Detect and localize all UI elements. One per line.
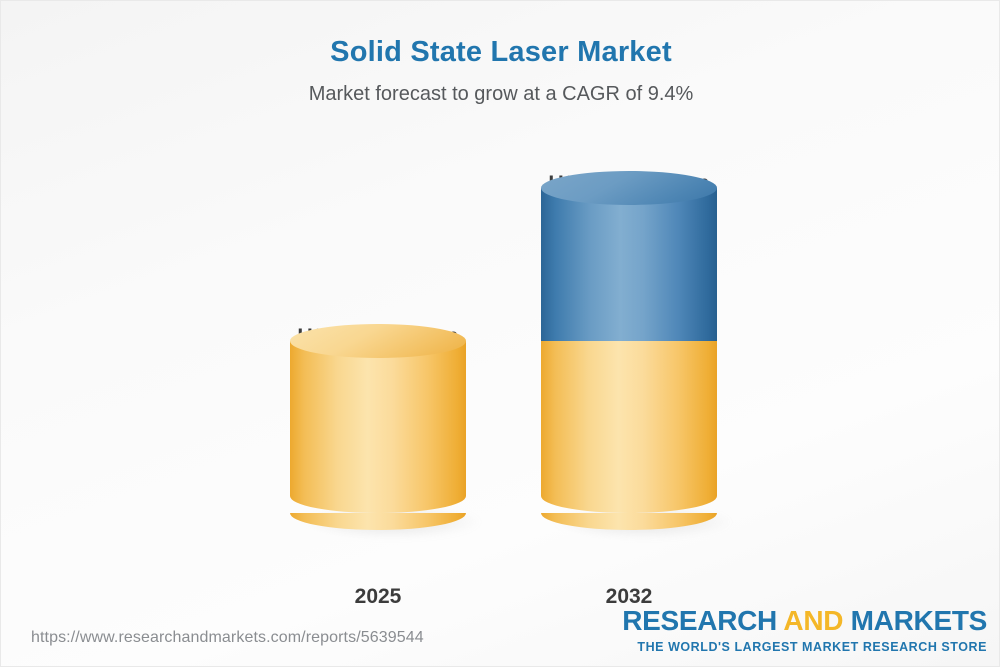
- cylinder-2025: [290, 341, 466, 513]
- segment-body: [541, 341, 717, 513]
- logo-word-research: RESEARCH: [622, 605, 777, 636]
- logo-wordmark: RESEARCH AND MARKETS: [622, 607, 987, 635]
- chart-header: Solid State Laser Market Market forecast…: [1, 35, 1000, 106]
- infographic-canvas: Solid State Laser Market Market forecast…: [0, 0, 1000, 667]
- segment-body: [290, 341, 466, 513]
- chart-plot-area: USD 4.16 Billion 2025 USD 7.78 Billion: [1, 151, 1000, 571]
- logo-word-markets: MARKETS: [851, 605, 987, 636]
- brand-logo[interactable]: RESEARCH AND MARKETS THE WORLD'S LARGEST…: [622, 607, 987, 654]
- cylinder-segment-base: [290, 341, 466, 513]
- cylinder-segment-base: [541, 341, 717, 513]
- footer: https://www.researchandmarkets.com/repor…: [1, 596, 1000, 666]
- segment-top-ellipse: [541, 171, 717, 205]
- logo-tagline: THE WORLD'S LARGEST MARKET RESEARCH STOR…: [622, 640, 987, 654]
- chart-subtitle: Market forecast to grow at a CAGR of 9.4…: [1, 82, 1000, 106]
- page-title: Solid State Laser Market: [1, 35, 1000, 70]
- cylinder-2032: [541, 188, 717, 513]
- segment-top-ellipse: [290, 324, 466, 358]
- logo-word-and: AND: [783, 605, 843, 636]
- cylinder-segment-growth: [541, 188, 717, 341]
- segment-body: [541, 188, 717, 341]
- source-url[interactable]: https://www.researchandmarkets.com/repor…: [31, 629, 424, 647]
